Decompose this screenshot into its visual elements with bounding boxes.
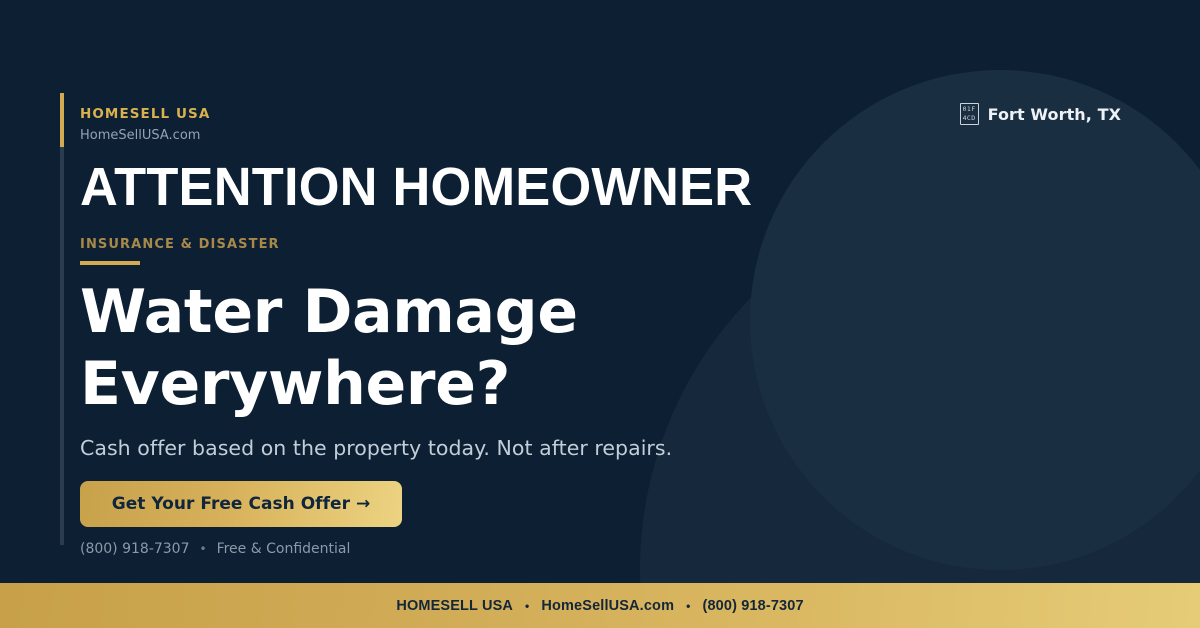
- footer-separator-1: •: [525, 599, 529, 613]
- subheading: Cash offer based on the property today. …: [80, 436, 672, 460]
- location-pin-icon: 01F 4CD: [960, 103, 979, 125]
- left-accent-rail-gold-segment: [60, 93, 64, 147]
- trust-separator: •: [200, 542, 207, 556]
- location-pin-icon-codepoint-bottom: 4CD: [961, 114, 978, 123]
- attention-headline: ATTENTION HOMEOWNER: [80, 158, 752, 217]
- page-title: Water Damage Everywhere?: [80, 276, 720, 420]
- footer-phone[interactable]: (800) 918-7307: [702, 598, 803, 614]
- brand-website: HomeSellUSA.com: [80, 128, 210, 144]
- brand-block: HOMESELL USA HomeSellUSA.com: [80, 106, 210, 143]
- location-text: Fort Worth, TX: [988, 105, 1121, 124]
- footer-brand: HOMESELL USA: [396, 598, 513, 614]
- footer-separator-2: •: [686, 599, 690, 613]
- brand-name: HOMESELL USA: [80, 106, 210, 123]
- left-accent-rail: [60, 93, 64, 545]
- location-badge: 01F 4CD Fort Worth, TX: [960, 103, 1121, 125]
- footer-bar: HOMESELL USA • HomeSellUSA.com • (800) 9…: [0, 583, 1200, 628]
- eyebrow-underline: [80, 261, 140, 265]
- trust-line: (800) 918-7307 • Free & Confidential: [80, 541, 350, 557]
- location-pin-icon-codepoint-top: 01F: [961, 105, 978, 114]
- footer-content: HOMESELL USA • HomeSellUSA.com • (800) 9…: [396, 598, 803, 614]
- ad-banner: HOMESELL USA HomeSellUSA.com 01F 4CD For…: [0, 0, 1200, 628]
- get-free-cash-offer-button[interactable]: Get Your Free Cash Offer →: [80, 481, 402, 527]
- phone-number[interactable]: (800) 918-7307: [80, 541, 190, 557]
- content-area: HOMESELL USA HomeSellUSA.com 01F 4CD For…: [80, 0, 1120, 628]
- eyebrow-label: INSURANCE & DISASTER: [80, 237, 280, 252]
- footer-website[interactable]: HomeSellUSA.com: [541, 598, 674, 614]
- trust-note: Free & Confidential: [217, 541, 351, 557]
